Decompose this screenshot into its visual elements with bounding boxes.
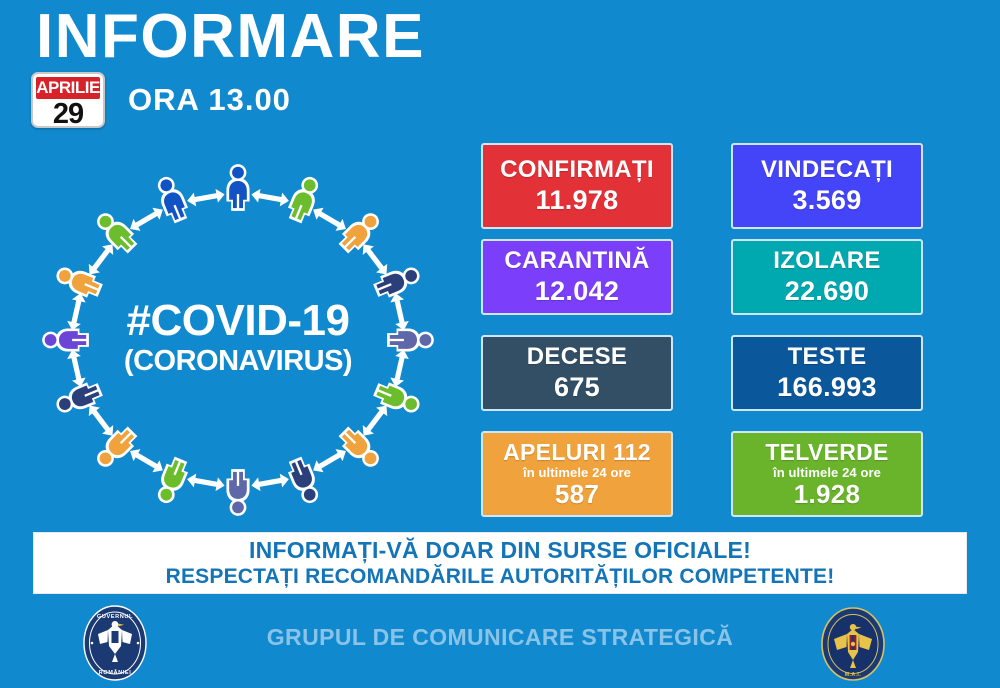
arrow-icon — [310, 204, 350, 235]
arrow-icon — [186, 472, 226, 492]
stat-value-carantina: 12.042 — [535, 275, 619, 307]
stat-box-decese: DECESE675 — [481, 335, 673, 411]
arrow-icon — [358, 240, 392, 279]
person-icon — [387, 328, 434, 351]
stat-box-teste: TESTE166.993 — [731, 335, 923, 411]
arrow-icon — [186, 187, 226, 207]
stat-label-teste: TESTE — [788, 343, 867, 371]
arrow-icon — [389, 348, 411, 388]
person-icon — [226, 164, 249, 211]
stat-label-apeluri-112: APELURI 112 — [503, 440, 651, 465]
stat-box-vindecati: VINDECAȚI3.569 — [731, 143, 923, 229]
date-badge-day: 29 — [33, 99, 103, 128]
stat-label-izolare: IZOLARE — [773, 247, 880, 275]
banner-line-2: RESPECTAȚI RECOMANDĂRILE AUTORITĂȚILOR C… — [166, 564, 835, 589]
stat-label-decese: DECESE — [527, 343, 628, 371]
guvernul-romaniei-seal-icon: GUVERNUL ROMÂNIEI — [82, 604, 148, 682]
banner-line-1: INFORMAȚI-VĂ DOAR DIN SURSE OFICIALE! — [249, 537, 751, 564]
arrow-icon — [358, 401, 392, 440]
stat-value-izolare: 22.690 — [785, 275, 869, 307]
arrow-icon — [310, 445, 350, 476]
page-title: INFORMARE — [36, 4, 425, 70]
stat-note-apeluri-112: în ultimele 24 ore — [523, 465, 631, 480]
person-icon — [335, 208, 384, 257]
date-badge-month: APRILIE — [36, 77, 100, 99]
stat-label-vindecati: VINDECAȚI — [761, 156, 893, 184]
stat-note-telverde: în ultimele 24 ore — [773, 465, 881, 480]
dsu-eagle-seal-icon: M.A.I. — [820, 606, 886, 682]
stat-label-confirmati: CONFIRMAȚI — [500, 156, 654, 184]
svg-text:GUVERNUL: GUVERNUL — [97, 614, 133, 620]
stat-label-telverde: TELVERDE — [765, 440, 888, 465]
stat-box-izolare: IZOLARE22.690 — [731, 239, 923, 315]
person-icon — [91, 423, 140, 472]
stat-value-telverde: 1.928 — [794, 480, 861, 509]
stat-box-confirmati: CONFIRMAȚI11.978 — [481, 143, 673, 229]
stat-value-decese: 675 — [554, 371, 600, 403]
svg-text:M.A.I.: M.A.I. — [845, 672, 861, 678]
stat-box-carantina: CARANTINĂ12.042 — [481, 239, 673, 315]
stat-value-confirmati: 11.978 — [536, 184, 619, 216]
person-icon — [42, 328, 89, 351]
stat-box-telverde: TELVERDEîn ultimele 24 ore1.928 — [731, 431, 923, 517]
official-sources-banner: INFORMAȚI-VĂ DOAR DIN SURSE OFICIALE! RE… — [33, 532, 967, 594]
arrow-icon — [65, 348, 87, 388]
stat-value-apeluri-112: 587 — [555, 480, 599, 509]
arrow-icon — [84, 401, 118, 440]
person-icon — [335, 423, 384, 472]
stat-value-teste: 166.993 — [777, 371, 877, 403]
arrow-icon — [84, 240, 118, 279]
arrow-icon — [250, 472, 290, 492]
arrow-icon — [65, 292, 87, 332]
arrow-icon — [389, 292, 411, 332]
calendar-icon: APRILIE 29 — [31, 72, 105, 128]
stat-box-apeluri-112: APELURI 112în ultimele 24 ore587 — [481, 431, 673, 517]
arrow-icon — [127, 445, 167, 476]
stat-label-carantina: CARANTINĂ — [504, 247, 649, 275]
person-icon — [226, 469, 249, 516]
people-circle-icon: #COVID-19 (CORONAVIRUS) — [28, 160, 448, 520]
arrow-icon — [127, 204, 167, 235]
svg-text:ROMÂNIEI: ROMÂNIEI — [99, 669, 132, 676]
hour-label: ORA 13.00 — [128, 82, 291, 118]
stats-grid: CONFIRMAȚI11.978VINDECAȚI3.569CARANTINĂ1… — [481, 143, 926, 518]
arrow-icon — [250, 187, 290, 207]
person-icon — [91, 208, 140, 257]
header: INFORMARE APRILIE 29 ORA 13.00 — [0, 0, 1000, 135]
stat-value-vindecati: 3.569 — [792, 184, 861, 216]
